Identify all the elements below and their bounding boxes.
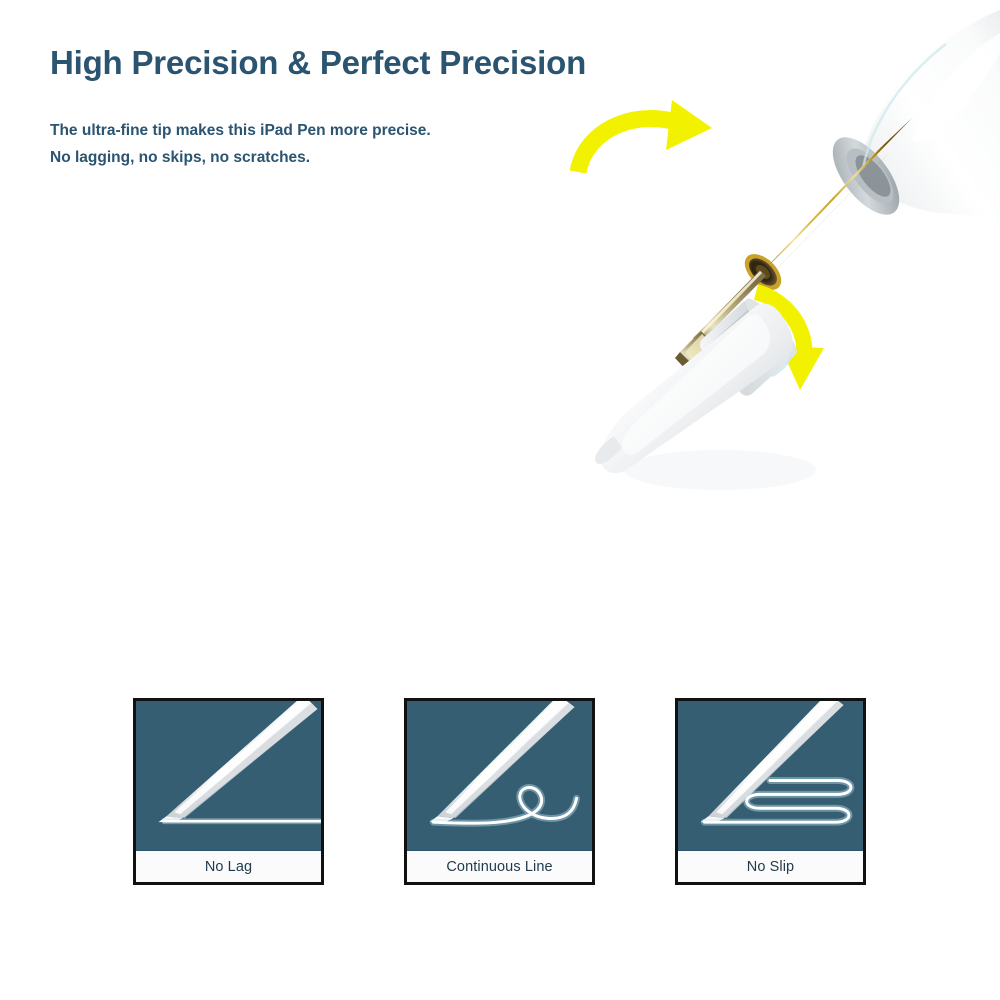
feature-panel-continuous-line[interactable]: Continuous Line	[404, 698, 595, 885]
stylus-body	[429, 701, 574, 822]
stylus-zigzag-line-art	[678, 701, 863, 850]
stylus-body	[158, 701, 317, 822]
rotate-arrow-upper-icon	[578, 100, 712, 172]
stylus-body	[700, 701, 843, 822]
subcopy-line-2: No lagging, no skips, no scratches.	[50, 144, 431, 171]
feature-caption-no-lag: No Lag	[136, 850, 321, 882]
feature-panel-no-slip[interactable]: No Slip	[675, 698, 866, 885]
feature-panel-row: No Lag	[133, 698, 866, 885]
stylus-curved-line-art	[407, 701, 592, 850]
page-title: High Precision & Perfect Precision	[50, 44, 586, 82]
subcopy-line-1: The ultra-fine tip makes this iPad Pen m…	[50, 117, 431, 144]
detachable-nib-cone	[595, 293, 803, 473]
pen-barrel	[820, 0, 1000, 226]
subcopy-block: The ultra-fine tip makes this iPad Pen m…	[50, 117, 431, 171]
stylus-straight-line-art	[136, 701, 321, 850]
feature-caption-no-slip: No Slip	[678, 850, 863, 882]
feature-panel-no-lag[interactable]: No Lag	[133, 698, 324, 885]
cone-shadow	[624, 450, 816, 490]
feature-caption-continuous-line: Continuous Line	[407, 850, 592, 882]
hero-illustration	[560, 0, 1000, 520]
